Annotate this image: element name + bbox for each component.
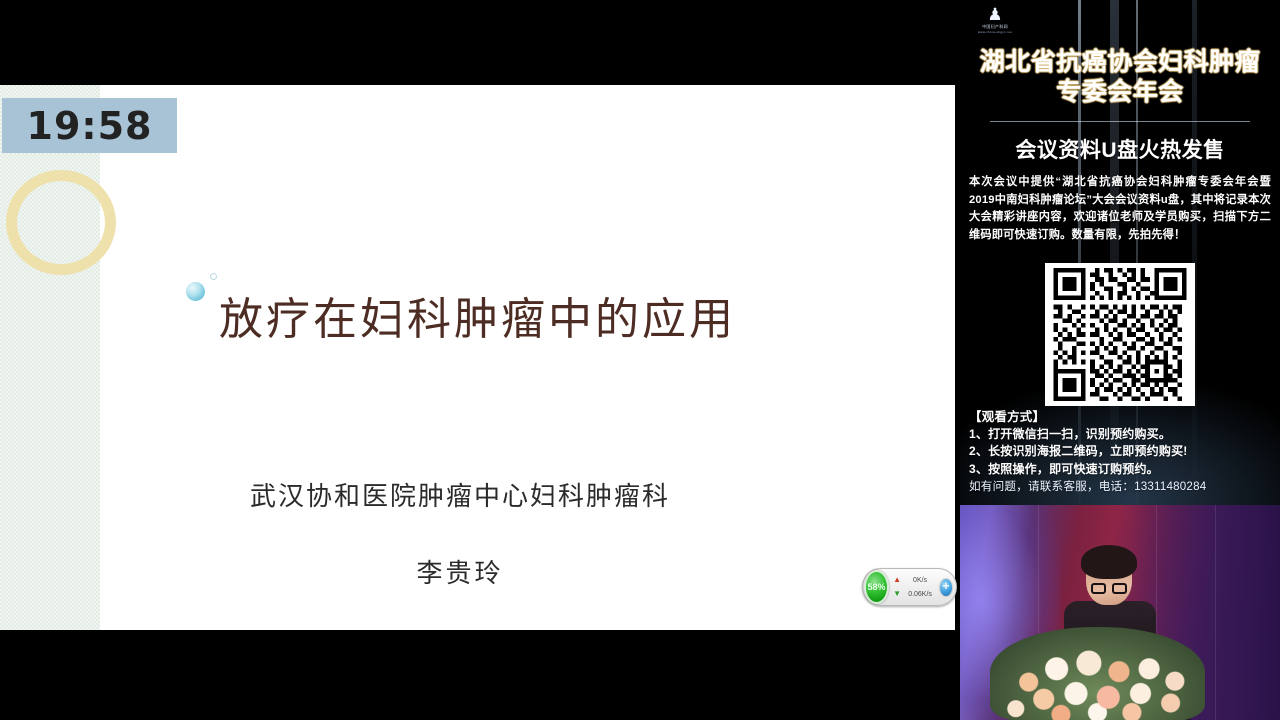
organization-logo: ♟ 中国妇产科网 www.china-obgyn.net [968,6,1022,34]
backdrop-seam [1215,505,1216,720]
flower-arrangement [990,627,1205,720]
speaker-video-feed[interactable] [960,505,1280,720]
instruction-item: 1、打开微信扫一扫，识别预约购买。 [969,426,1271,443]
instruction-item: 3、按照操作，即可快速订购预约。 [969,461,1271,478]
instruction-item: 2、长按识别海报二维码，立即预约购买! [969,443,1271,460]
promo-panel: ♟ 中国妇产科网 www.china-obgyn.net 湖北省抗癌协会妇科肿瘤… [960,0,1280,505]
promo-subtitle: 会议资料U盘火热发售 [960,134,1280,164]
gold-ellipse-decoration [6,170,116,275]
qr-code[interactable] [1045,263,1195,406]
countdown-timer-value: 19:58 [27,104,153,148]
memory-usage-gauge[interactable]: 58% [864,570,889,604]
arrow-down-icon: ▼ [893,590,900,598]
promo-body-text: 本次会议中提供“湖北省抗癌协会妇科肿瘤专委会年会暨2019中南妇科肿瘤论坛”大会… [969,174,1271,244]
slide-affiliation: 武汉协和医院肿瘤中心妇科肿瘤科 [0,476,920,513]
upload-rate-row: ▲ 0K/s [893,573,940,587]
download-rate-value: 0.06K/s [900,591,940,598]
promo-title-line1: 湖北省抗癌协会妇科肿瘤 [960,47,1280,77]
countdown-timer: 19:58 [2,98,177,153]
download-rate-row: ▼ 0.06K/s [893,587,940,601]
eyeglasses-icon [1091,583,1106,594]
memory-usage-value: 58% [868,582,886,592]
divider-line [990,121,1250,122]
customer-service-contact: 如有问题，请联系客服，电话：13311480284 [969,478,1271,495]
broadcast-layout: 放疗在妇科肿瘤中的应用 武汉协和医院肿瘤中心妇科肿瘤科 李贵玲 19:58 58… [0,0,1280,720]
presentation-slide: 放疗在妇科肿瘤中的应用 武汉协和医院肿瘤中心妇科肿瘤科 李贵玲 [0,85,955,630]
arrow-up-icon: ▲ [893,576,900,584]
logo-text-secondary: www.china-obgyn.net [968,30,1022,34]
slide-presenter-name: 李贵玲 [0,553,920,590]
logo-mark-icon: ♟ [968,6,1022,23]
instructions-heading: 【观看方式】 [969,409,1271,426]
eyeglasses-icon [1112,583,1127,594]
promo-instructions: 【观看方式】 1、打开微信扫一扫，识别预约购买。 2、长按识别海报二维码，立即预… [969,409,1271,495]
slide-title: 放疗在妇科肿瘤中的应用 [0,283,955,347]
network-speed-widget[interactable]: 58% ▲ 0K/s ▼ 0.06K/s + [862,568,957,606]
promo-title: 湖北省抗癌协会妇科肿瘤 专委会年会 [960,47,1280,107]
expand-widget-button[interactable]: + [940,579,952,596]
upload-rate-value: 0K/s [900,577,940,584]
speaker-hair [1081,545,1137,579]
promo-title-line2: 专委会年会 [960,77,1280,107]
small-ring-decoration [210,273,217,280]
slide-texture-band [0,85,100,630]
network-rates: ▲ 0K/s ▼ 0.06K/s [889,573,940,601]
slide-video-stream[interactable]: 放疗在妇科肿瘤中的应用 武汉协和医院肿瘤中心妇科肿瘤科 李贵玲 19:58 58… [0,0,960,720]
